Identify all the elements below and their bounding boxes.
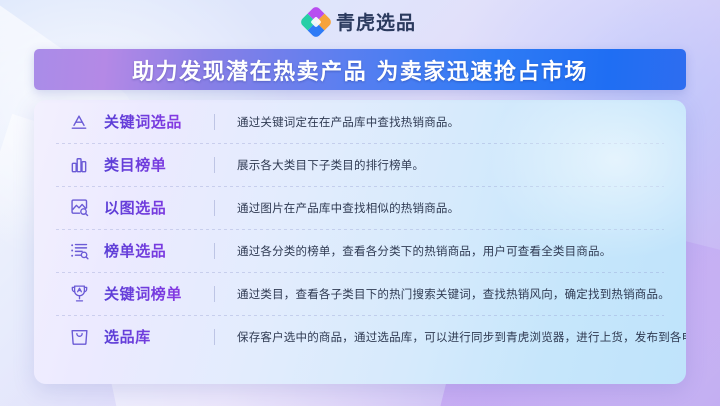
- feature-row-keyword-selection[interactable]: 关键词选品 通过关键词定在在产品库中查找热销商品。: [34, 100, 686, 143]
- brand-name: 青虎选品: [336, 8, 416, 35]
- feature-title: 关键词榜单: [104, 283, 212, 304]
- row-divider: [214, 157, 215, 173]
- feature-title: 榜单选品: [104, 240, 212, 261]
- diamond-logo-icon: [299, 5, 333, 39]
- feature-row-image-selection[interactable]: 以图选品 通过图片在产品库中查找相似的热销商品。: [34, 186, 686, 229]
- row-divider: [214, 243, 215, 259]
- feature-description: 保存客户选中的商品，通过选品库，可以进行同步到青虎浏览器，进行上货，发布到各电商…: [237, 329, 686, 345]
- headline-text: 助力发现潜在热卖产品 为卖家迅速抢占市场: [132, 54, 588, 86]
- feature-list: 关键词选品 通过关键词定在在产品库中查找热销商品。 类目榜单 展示各大类目下子类…: [34, 100, 686, 358]
- feature-description: 通过关键词定在在产品库中查找热销商品。: [237, 114, 459, 130]
- feature-row-category-ranking[interactable]: 类目榜单 展示各大类目下子类目的排行榜单。: [34, 143, 686, 186]
- trophy-a-icon: [66, 281, 92, 307]
- feature-title: 类目榜单: [104, 154, 212, 175]
- headline-banner: 助力发现潜在热卖产品 为卖家迅速抢占市场: [34, 49, 686, 90]
- feature-title: 选品库: [104, 326, 212, 347]
- feature-title: 关键词选品: [104, 111, 212, 132]
- image-search-icon: [66, 195, 92, 221]
- shopping-bag-icon: [66, 324, 92, 350]
- row-divider: [214, 329, 215, 345]
- feature-description: 展示各大类目下子类目的排行榜单。: [237, 157, 424, 173]
- promo-page: { "brand": { "logo_icon": "diamond-logo-…: [0, 0, 720, 406]
- feature-row-selection-library[interactable]: 选品库 保存客户选中的商品，通过选品库，可以进行同步到青虎浏览器，进行上货，发布…: [34, 315, 686, 358]
- feature-title: 以图选品: [104, 197, 212, 218]
- feature-description: 通过图片在产品库中查找相似的热销商品。: [237, 200, 459, 216]
- letter-a-underline-icon: [66, 109, 92, 135]
- feature-row-list-selection[interactable]: 榜单选品 通过各分类的榜单，查看各分类下的热销商品，用户可查看全类目商品。: [34, 229, 686, 272]
- feature-description: 通过各分类的榜单，查看各分类下的热销商品，用户可查看全类目商品。: [237, 243, 611, 259]
- feature-card: 关键词选品 通过关键词定在在产品库中查找热销商品。 类目榜单 展示各大类目下子类…: [34, 100, 686, 384]
- feature-description: 通过类目，查看各子类目下的热门搜索关键词，查找热销风向，确定找到热销商品。: [237, 286, 670, 302]
- bar-chart-icon: [66, 152, 92, 178]
- row-divider: [214, 200, 215, 216]
- brand-lockup: 青虎选品: [0, 8, 720, 35]
- row-divider: [214, 286, 215, 302]
- list-search-icon: [66, 238, 92, 264]
- row-divider: [214, 114, 215, 130]
- feature-row-keyword-ranking[interactable]: 关键词榜单 通过类目，查看各子类目下的热门搜索关键词，查找热销风向，确定找到热销…: [34, 272, 686, 315]
